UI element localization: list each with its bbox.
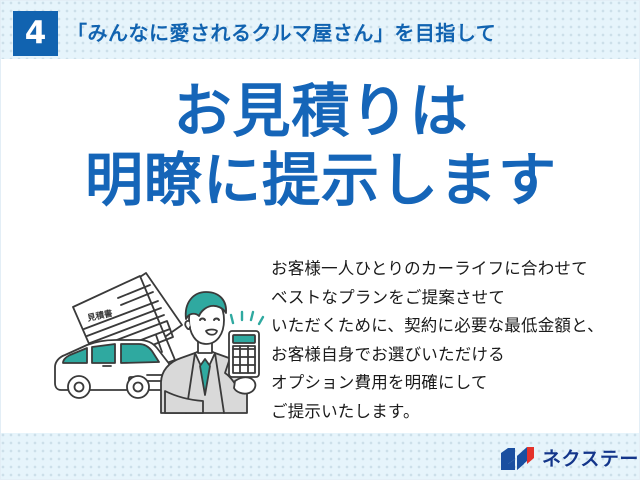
step-number-badge: 4 bbox=[13, 11, 58, 56]
sparkle-icon bbox=[231, 312, 263, 324]
brand-name: ネクステージ bbox=[542, 450, 640, 469]
headline-line-1: お見積りは bbox=[1, 79, 640, 144]
n-logo-icon bbox=[501, 447, 535, 471]
body-copy-line: お客様自身でお選びいただける bbox=[271, 341, 640, 370]
salesperson-illustration: 見積書 bbox=[43, 263, 275, 423]
body-copy-line: オプション費用を明確にして bbox=[271, 369, 640, 398]
body-copy: お客様一人ひとりのカーライフに合わせて ベストなプランをご提案させて いただくた… bbox=[271, 255, 640, 426]
van-illustration bbox=[55, 340, 171, 398]
headline-line-2: 明瞭に提示します bbox=[1, 148, 640, 213]
body-copy-line: いただくために、契約に必要な最低金額と、 bbox=[271, 312, 640, 341]
body-copy-line: お客様一人ひとりのカーライフに合わせて bbox=[271, 255, 640, 284]
headline: お見積りは 明瞭に提示します bbox=[1, 79, 640, 213]
promo-banner: 4 「みんなに愛されるクルマ屋さん」を目指して お見積りは 明瞭に提示します お… bbox=[0, 0, 640, 480]
brand-logo: ネクステージ bbox=[501, 445, 640, 473]
body-copy-line: ベストなプランをご提案させて bbox=[271, 284, 640, 313]
body-copy-line: ご提示いたします。 bbox=[271, 398, 640, 427]
header-title: 「みんなに愛されるクルマ屋さん」を目指して bbox=[67, 17, 496, 46]
calculator-icon bbox=[229, 331, 259, 377]
